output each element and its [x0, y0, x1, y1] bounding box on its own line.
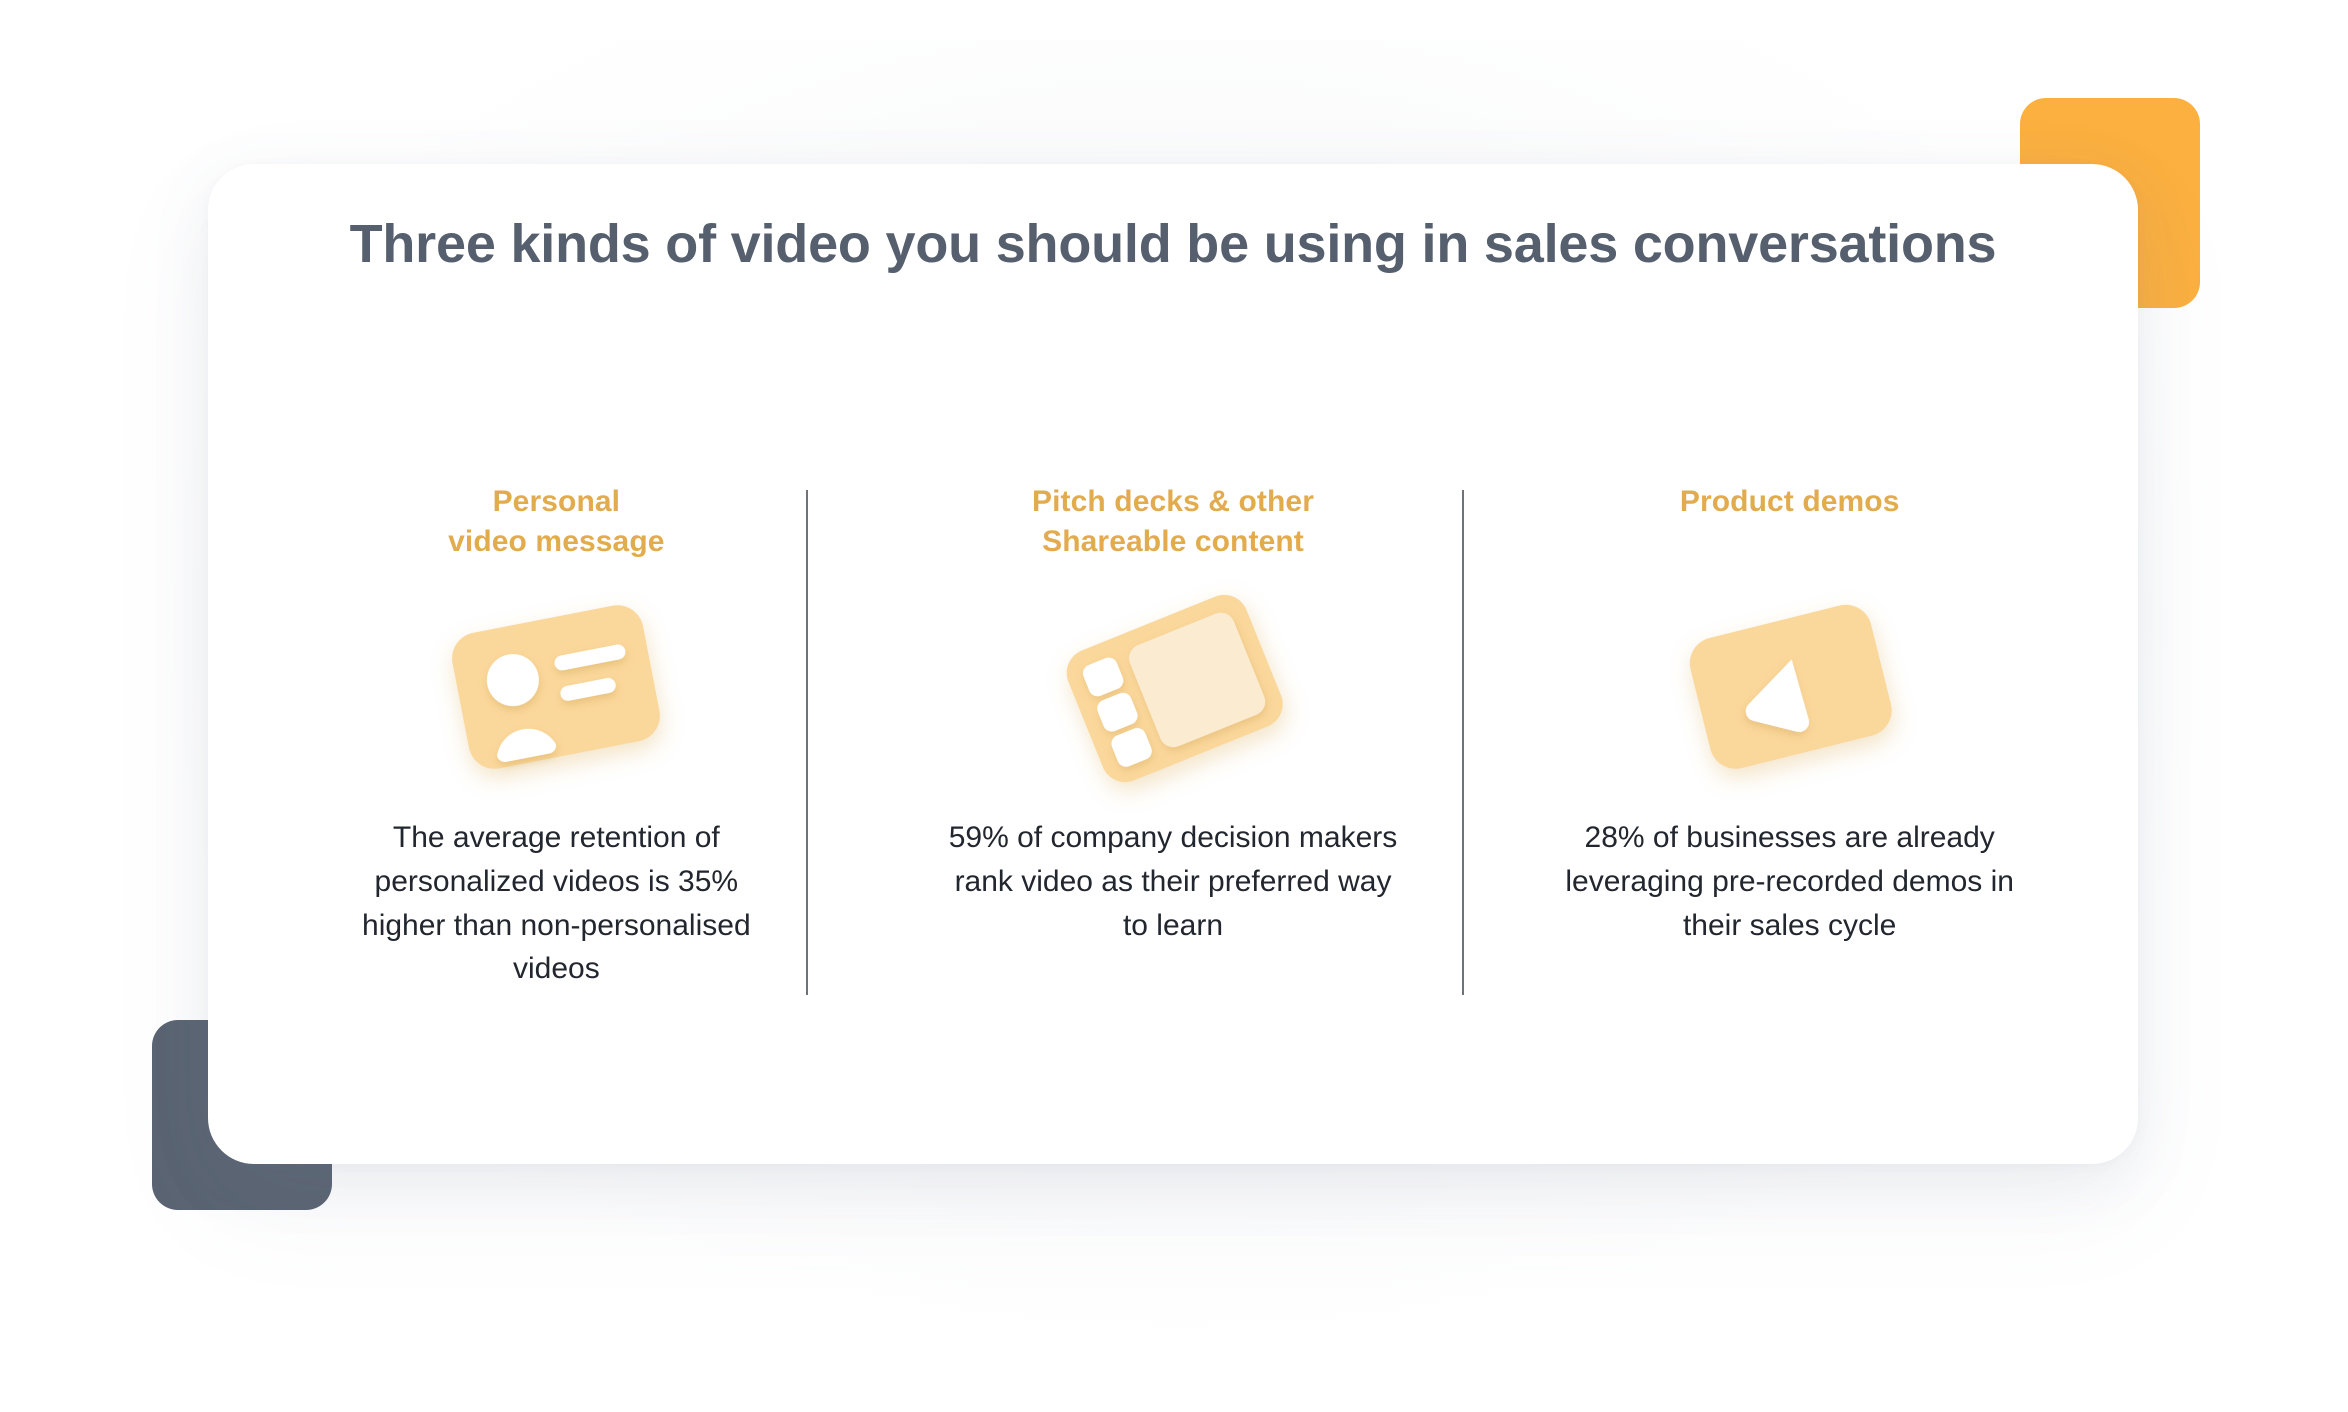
column-heading-line1: Product demos: [1680, 485, 1900, 518]
column-body-text: 28% of businesses are already leveraging…: [1565, 816, 2015, 947]
column-heading: Personal video message: [448, 482, 664, 568]
columns-container: Personal video message: [248, 482, 2098, 991]
column-heading: Pitch decks & other Shareable content: [1032, 482, 1314, 568]
column-body-text: 59% of company decision makers rank vide…: [948, 816, 1398, 947]
video-play-icon: [1665, 592, 1915, 782]
column-heading: Product demos: [1680, 482, 1900, 568]
column-heading-line2: Shareable content: [1042, 525, 1304, 558]
column-personal-video-message: Personal video message: [248, 482, 865, 991]
column-heading-line1: Personal: [493, 485, 621, 518]
column-heading-line2: video message: [448, 525, 664, 558]
slide-deck-icon: [1048, 592, 1298, 782]
column-heading-line1: Pitch decks & other: [1032, 485, 1314, 518]
page-title: Three kinds of video you should be using…: [208, 212, 2138, 277]
content-card: Three kinds of video you should be using…: [208, 164, 2138, 1164]
contact-card-icon: [431, 592, 681, 782]
column-pitch-decks-shareable-content: Pitch decks & other Shareable content: [865, 482, 1482, 947]
column-body-text: The average retention of personalized vi…: [331, 816, 781, 991]
column-product-demos: Product demos: [1481, 482, 2098, 947]
